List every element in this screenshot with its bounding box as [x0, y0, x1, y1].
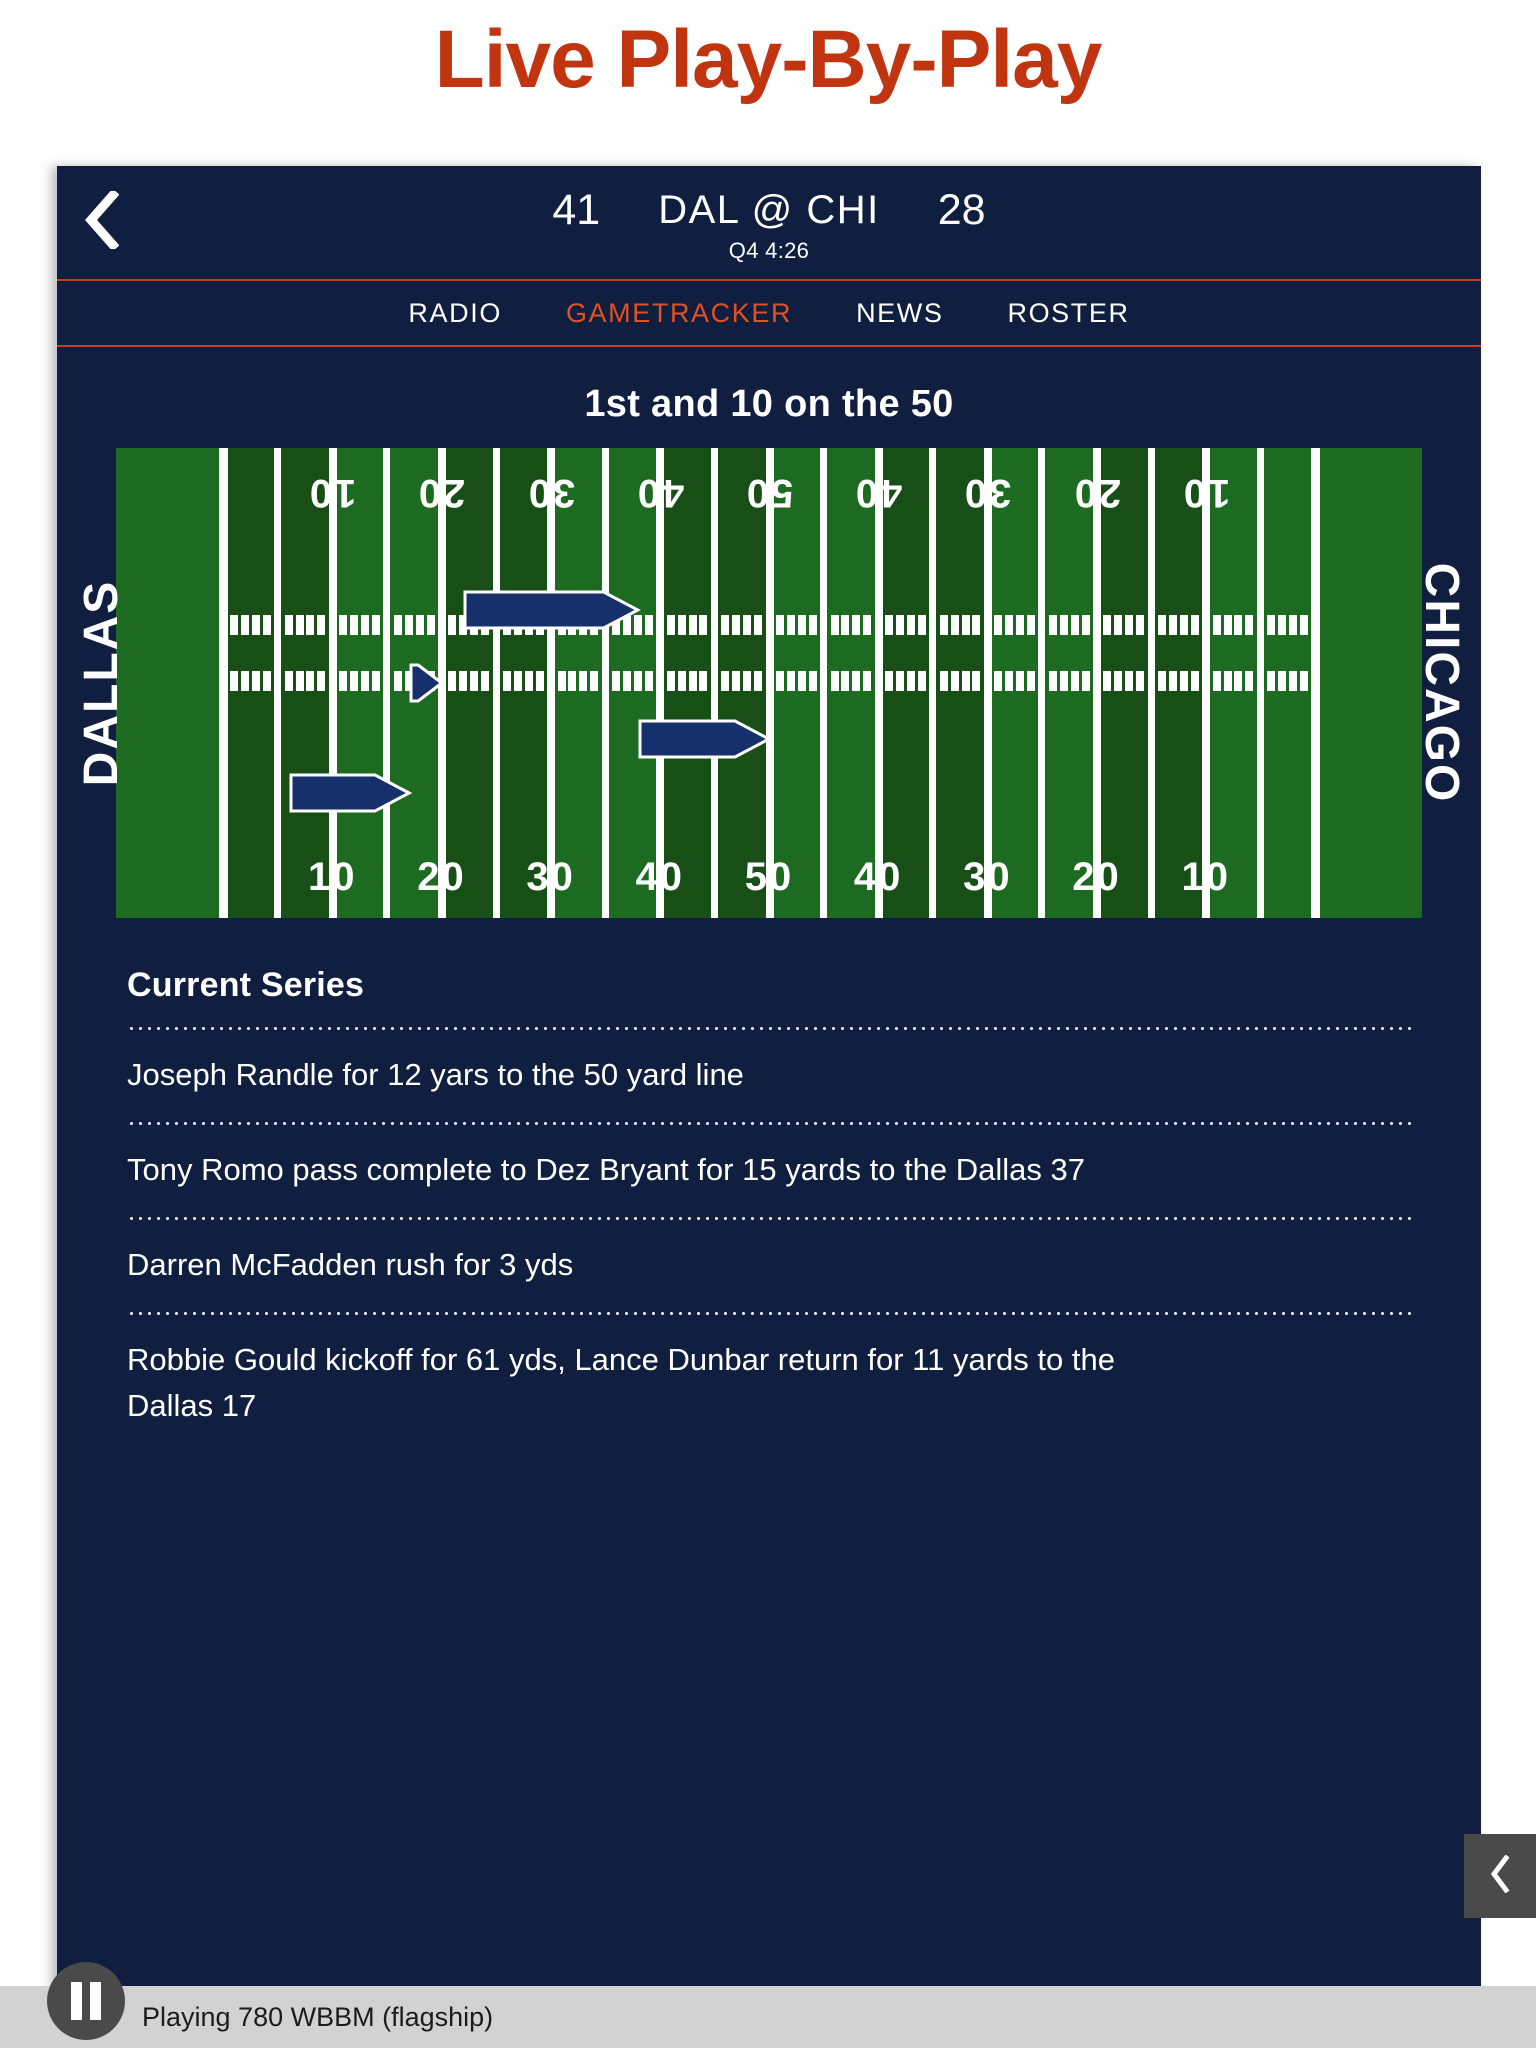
- player-status-label: Playing 780 WBBM (flagship): [142, 2002, 493, 2033]
- chevron-left-icon: [1489, 1855, 1511, 1898]
- yard-number-top: 40: [854, 470, 903, 515]
- gametracker-app: 41 DAL @ CHI 28 Q4 4:26 RADIO GAMETRACKE…: [57, 166, 1481, 2048]
- tab-gametracker[interactable]: GAMETRACKER: [534, 298, 824, 329]
- play-situation-title: 1st and 10 on the 50: [57, 347, 1481, 448]
- football-field: 102030405040302010102030405040302010 DAL…: [116, 448, 1422, 918]
- home-score: 28: [938, 186, 986, 235]
- pass-15yds-arrow: [463, 586, 644, 636]
- play-item[interactable]: Darren McFadden rush for 3 yds: [127, 1220, 1147, 1312]
- run-12yds-arrow: [638, 715, 775, 765]
- yard-number-top: 10: [1181, 470, 1230, 515]
- yard-number-top: 30: [526, 470, 575, 515]
- audio-player-bar: Playing 780 WBBM (flagship): [0, 1986, 1536, 2048]
- yard-number-bottom: 20: [417, 855, 466, 900]
- play-item[interactable]: Robbie Gould kickoff for 61 yds, Lance D…: [127, 1315, 1147, 1453]
- pause-button[interactable]: [47, 1962, 125, 2040]
- yard-number-top: 50: [745, 470, 794, 515]
- hash-mark-row: [116, 615, 1422, 635]
- yard-number-bottom: 30: [526, 855, 575, 900]
- yard-number-bottom: 30: [963, 855, 1012, 900]
- drawer-toggle-button[interactable]: [1464, 1834, 1536, 1918]
- yard-number-top: 20: [1072, 470, 1121, 515]
- series-divider: [127, 1312, 1411, 1315]
- current-series-section: Current Series Joseph Randle for 12 yars…: [57, 918, 1481, 1453]
- play-item[interactable]: Tony Romo pass complete to Dez Bryant fo…: [127, 1125, 1147, 1217]
- tab-radio[interactable]: RADIO: [376, 298, 534, 329]
- nav-tabs: RADIO GAMETRACKER NEWS ROSTER: [57, 281, 1481, 345]
- yard-number-bottom: 40: [854, 855, 903, 900]
- tab-roster[interactable]: ROSTER: [975, 298, 1161, 329]
- yard-number-top: 30: [963, 470, 1012, 515]
- game-clock: Q4 4:26: [57, 238, 1481, 264]
- hash-mark-row: [116, 671, 1422, 691]
- tab-news[interactable]: NEWS: [824, 298, 975, 329]
- matchup-label: DAL @ CHI: [658, 188, 880, 233]
- page-title: Live Play-By-Play: [0, 14, 1536, 106]
- kickoff-return-arrow: [289, 769, 415, 819]
- yard-number-top: 40: [636, 470, 685, 515]
- scoreboard: 41 DAL @ CHI 28: [57, 186, 1481, 235]
- play-item[interactable]: Joseph Randle for 12 yars to the 50 yard…: [127, 1030, 1147, 1122]
- series-divider: [127, 1217, 1411, 1220]
- away-score: 41: [552, 186, 600, 235]
- yard-number-top: 10: [308, 470, 357, 515]
- yard-number-bottom: 10: [1181, 855, 1230, 900]
- field-turf: 102030405040302010102030405040302010: [116, 448, 1422, 918]
- series-divider: [127, 1027, 1411, 1030]
- yard-number-bottom: 40: [636, 855, 685, 900]
- pause-icon: [67, 1982, 105, 2020]
- series-divider: [127, 1122, 1411, 1125]
- current-series-heading: Current Series: [127, 966, 1411, 1005]
- yard-number-bottom: 10: [308, 855, 357, 900]
- right-team-label: CHICAGO: [1414, 563, 1469, 804]
- rush-3yds-arrow: [409, 659, 448, 709]
- yard-number-top: 20: [417, 470, 466, 515]
- left-team-label: DALLAS: [74, 580, 129, 787]
- yard-number-bottom: 20: [1072, 855, 1121, 900]
- score-header: 41 DAL @ CHI 28 Q4 4:26: [57, 166, 1481, 279]
- yard-number-bottom: 50: [745, 855, 794, 900]
